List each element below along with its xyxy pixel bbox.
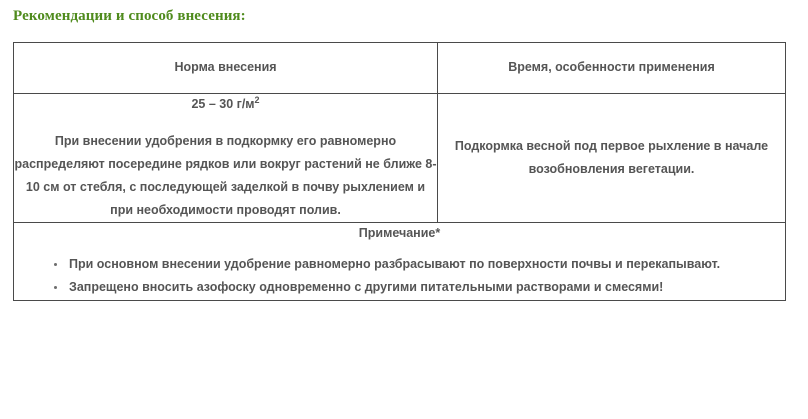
cell-dose: 25 – 30 г/м2 При внесении удобрения в по… — [14, 94, 438, 223]
table-header-row: Норма внесения Время, особенности примен… — [14, 43, 786, 94]
table-row: 25 – 30 г/м2 При внесении удобрения в по… — [14, 94, 786, 223]
cell-timing: Подкормка весной под первое рыхление в н… — [438, 94, 786, 223]
note-list: При основном внесении удобрение равномер… — [14, 253, 785, 299]
dose-superscript: 2 — [255, 95, 260, 105]
note-title: Примечание* — [14, 223, 785, 245]
page-title: Рекомендации и способ внесения: — [13, 8, 246, 25]
dose-description: При внесении удобрения в подкормку его р… — [14, 130, 437, 223]
list-item: При основном внесении удобрение равномер… — [54, 253, 771, 276]
recommendations-table: Норма внесения Время, особенности примен… — [13, 42, 786, 301]
table-header-timing: Время, особенности применения — [438, 43, 786, 94]
dose-number: 25 – 30 г/м — [191, 97, 254, 111]
table-note-row: Примечание* При основном внесении удобре… — [14, 223, 786, 300]
table-header-dose: Норма внесения — [14, 43, 438, 94]
timing-description: Подкормка весной под первое рыхление в н… — [438, 135, 785, 181]
recommendations-table-wrapper: Норма внесения Время, особенности примен… — [13, 42, 785, 301]
dose-value: 25 – 30 г/м2 — [14, 94, 437, 116]
list-item: Запрещено вносить азофоску одновременно … — [54, 276, 771, 299]
cell-note: Примечание* При основном внесении удобре… — [14, 223, 786, 300]
document-page: Рекомендации и способ внесения: Норма вн… — [0, 0, 808, 419]
